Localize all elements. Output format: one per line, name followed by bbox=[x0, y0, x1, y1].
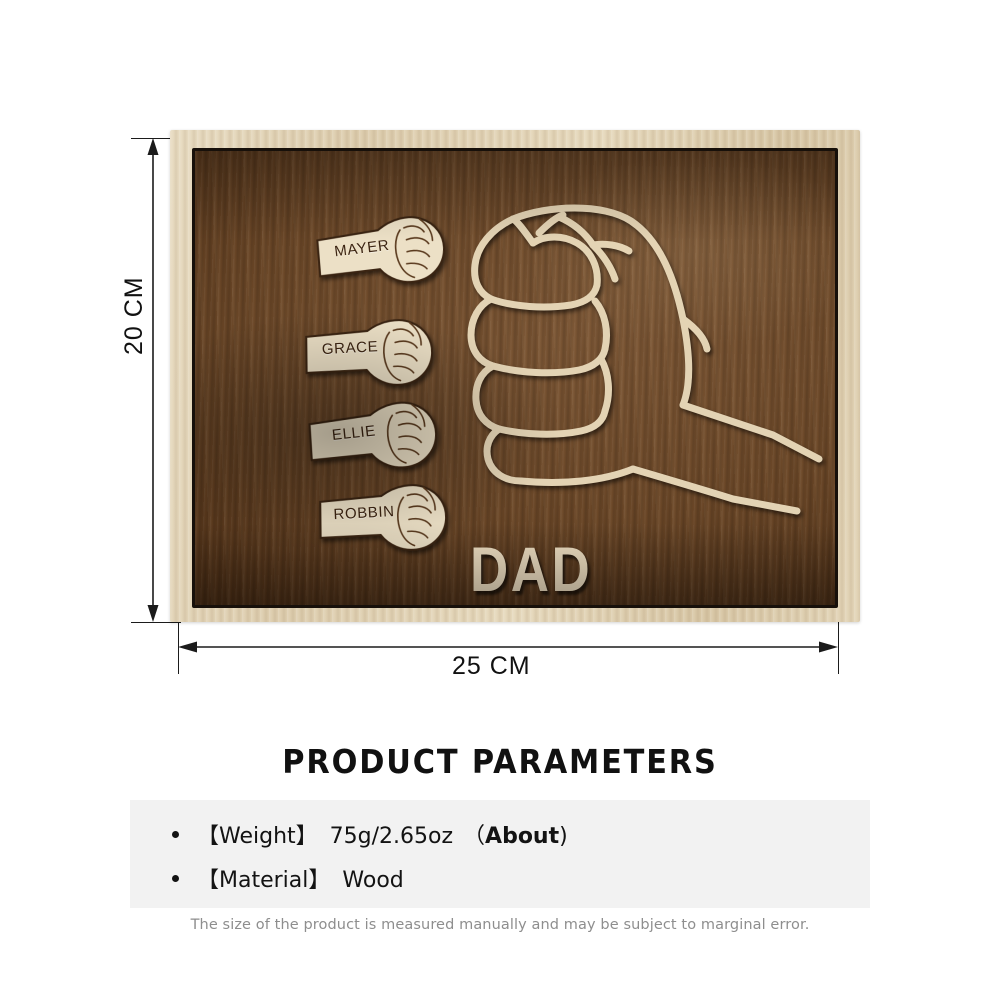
name-block-2: ELLIE bbox=[306, 396, 444, 477]
parameter-note: （About) bbox=[463, 818, 568, 850]
parameter-key: 【Material】 bbox=[197, 862, 330, 894]
dad-fist-outline-icon bbox=[453, 189, 823, 519]
name-block-0: MAYER bbox=[313, 210, 452, 293]
height-dimension-label: 20 CM bbox=[120, 276, 149, 355]
product-parameters-title: PRODUCT PARAMETERS bbox=[40, 742, 960, 781]
name-block-3: ROBBIN bbox=[316, 478, 452, 556]
parameter-value: 75g/2.65oz bbox=[330, 824, 453, 849]
bullet-icon bbox=[172, 831, 179, 838]
parameter-key: 【Weight】 bbox=[197, 818, 318, 850]
parameter-note-open: （ bbox=[463, 824, 485, 849]
name-block-1: GRACE bbox=[302, 313, 438, 391]
wood-panel: DAD MAYER bbox=[195, 151, 835, 605]
parameter-note-close: ) bbox=[559, 824, 568, 849]
width-dimension-label: 25 CM bbox=[452, 652, 531, 681]
parameter-note-text: About bbox=[485, 824, 559, 849]
product-detail-page: 20 CM 25 CM bbox=[0, 0, 1000, 1000]
parameter-row-material: 【Material】 Wood bbox=[172, 862, 404, 894]
dad-word-text: DAD bbox=[470, 534, 592, 605]
product-image: DAD MAYER bbox=[170, 130, 860, 630]
bullet-icon bbox=[172, 875, 179, 882]
height-dimension-arrow bbox=[146, 138, 160, 622]
measurement-disclaimer: The size of the product is measured manu… bbox=[0, 917, 1000, 933]
parameter-row-weight: 【Weight】 75g/2.65oz （About) bbox=[172, 818, 568, 850]
parameter-value: Wood bbox=[342, 868, 403, 893]
product-parameters-panel: 【Weight】 75g/2.65oz （About) 【Material】 W… bbox=[130, 800, 870, 908]
